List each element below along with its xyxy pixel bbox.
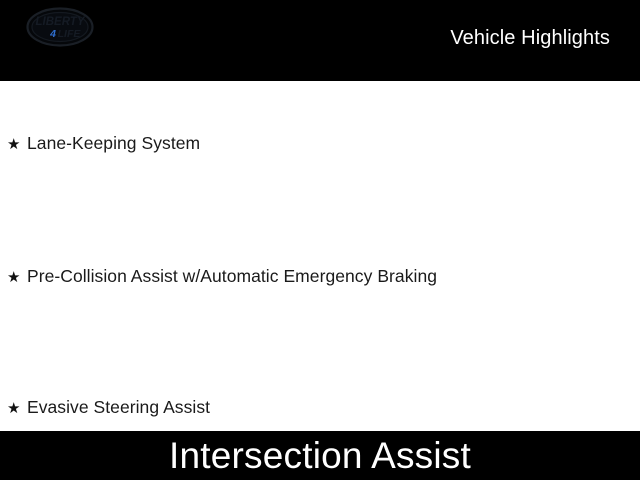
svg-text:4: 4 bbox=[49, 28, 56, 40]
list-item: ★ Evasive Steering Assist bbox=[0, 399, 210, 417]
footer-bar: Intersection Assist bbox=[0, 431, 640, 480]
star-bullet-icon: ★ bbox=[7, 401, 27, 416]
star-bullet-icon: ★ bbox=[7, 137, 27, 152]
header-bar: LIBERTY 4 LIFE Vehicle Highlights bbox=[0, 0, 640, 81]
list-item-label: Evasive Steering Assist bbox=[27, 399, 210, 417]
star-bullet-icon: ★ bbox=[7, 270, 27, 285]
footer-title: Intersection Assist bbox=[169, 437, 471, 474]
svg-text:LIBERTY: LIBERTY bbox=[36, 16, 86, 28]
liberty-4-life-oval-logo: LIBERTY 4 LIFE bbox=[26, 7, 94, 47]
svg-text:LIFE: LIFE bbox=[58, 28, 82, 40]
list-item: ★ Pre-Collision Assist w/Automatic Emerg… bbox=[0, 268, 437, 286]
list-item: ★ Lane-Keeping System bbox=[0, 135, 200, 153]
page-title: Vehicle Highlights bbox=[450, 27, 610, 50]
highlights-list: ★ Lane-Keeping System ★ Pre-Collision As… bbox=[0, 81, 640, 431]
vehicle-highlights-slide: LIBERTY 4 LIFE Vehicle Highlights ★ Lane… bbox=[0, 0, 640, 480]
logo-svg: LIBERTY 4 LIFE bbox=[26, 7, 94, 47]
list-item-label: Pre-Collision Assist w/Automatic Emergen… bbox=[27, 268, 437, 286]
list-item-label: Lane-Keeping System bbox=[27, 135, 200, 153]
